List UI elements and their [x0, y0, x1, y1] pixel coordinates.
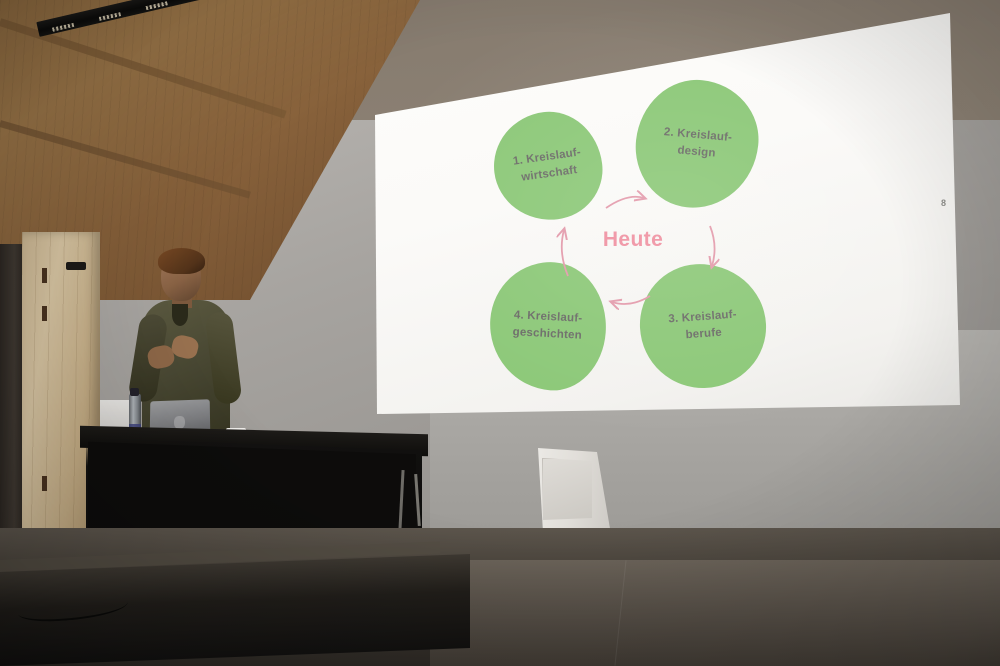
- floor-lit-area: [430, 560, 1000, 666]
- slide-center-label: Heute: [568, 228, 698, 252]
- slide-page-number: 8: [941, 198, 946, 208]
- blob-label: 4. Kreislauf- geschichten: [513, 308, 584, 345]
- blob-label: 3. Kreislauf- berufe: [668, 307, 739, 345]
- slide-blob-kreislaufdesign[interactable]: 2. Kreislauf- design: [630, 74, 765, 214]
- door-hinge: [42, 268, 47, 283]
- slide-blob-kreislaufgeschichten[interactable]: 4. Kreislauf- geschichten: [486, 258, 611, 394]
- slide-blob-kreislaufberufe[interactable]: 3. Kreislauf- berufe: [637, 261, 769, 391]
- slide-blob-kreislaufwirtschaft[interactable]: 1. Kreislauf- wirtschaft: [488, 106, 608, 226]
- blob-label: 1. Kreislauf- wirtschaft: [512, 145, 584, 188]
- speaker-grille: [542, 458, 594, 522]
- blob-label: 2. Kreislauf- design: [661, 124, 732, 163]
- bottle-cap: [130, 388, 139, 396]
- ceiling-beam: [0, 120, 251, 198]
- presenter-hair: [158, 248, 205, 274]
- door-hinge: [42, 476, 47, 491]
- door-hinge: [42, 306, 47, 321]
- presentation-room-photo: 1. Kreislauf- wirtschaft 2. Kreislauf- d…: [0, 0, 1000, 666]
- arrow-2-to-3: [710, 226, 715, 266]
- wall-vent: [66, 262, 86, 270]
- arrow-1-to-2: [606, 197, 644, 208]
- presenter-collar: [172, 304, 188, 326]
